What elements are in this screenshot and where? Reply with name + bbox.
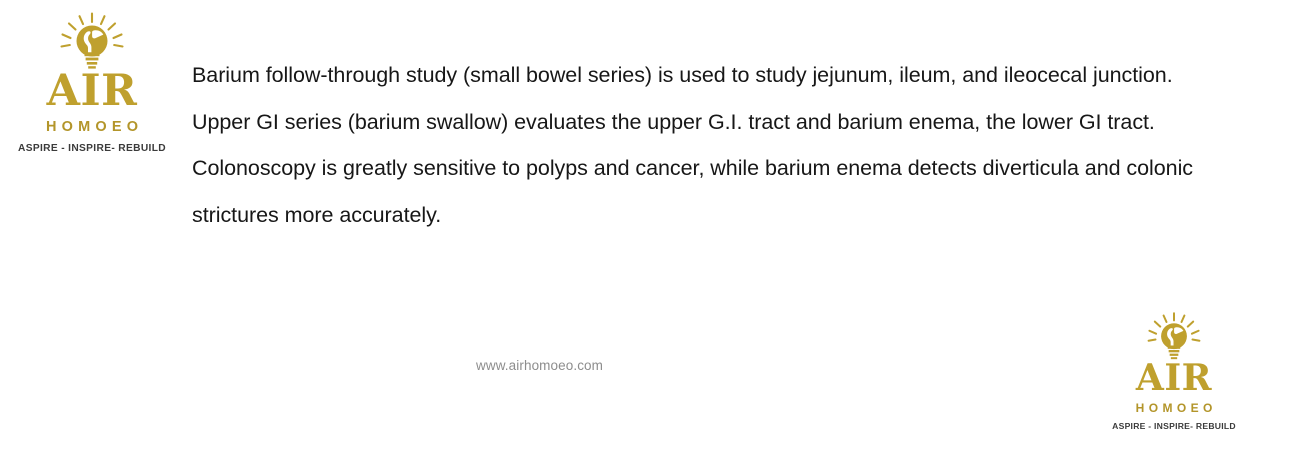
brand-subword: HOMOEO (41, 120, 143, 135)
brand-subword: HOMOEO (1131, 402, 1216, 414)
watermark-url: www.airhomoeo.com (476, 358, 603, 373)
brand-logo-primary: AIR HOMOEO ASPIRE - INSPIRE- REBUILD (22, 12, 162, 154)
brand-logo-secondary: AIR HOMOEO ASPIRE - INSPIRE- REBUILD (1115, 312, 1233, 431)
paragraph-2: Upper GI series (barium swallow) evaluat… (192, 99, 1204, 146)
lightbulb-icon (1139, 312, 1209, 362)
paragraph-3: Colonoscopy is greatly sensitive to poly… (192, 145, 1204, 238)
brand-tagline: ASPIRE - INSPIRE- REBUILD (18, 144, 166, 154)
lightbulb-icon (50, 12, 134, 72)
brand-tagline: ASPIRE - INSPIRE- REBUILD (1112, 422, 1236, 431)
content-body: Barium follow-through study (small bowel… (192, 52, 1204, 238)
brand-wordmark: AIR (47, 70, 138, 113)
paragraph-1: Barium follow-through study (small bowel… (192, 52, 1204, 99)
brand-wordmark: AIR (1136, 360, 1212, 396)
